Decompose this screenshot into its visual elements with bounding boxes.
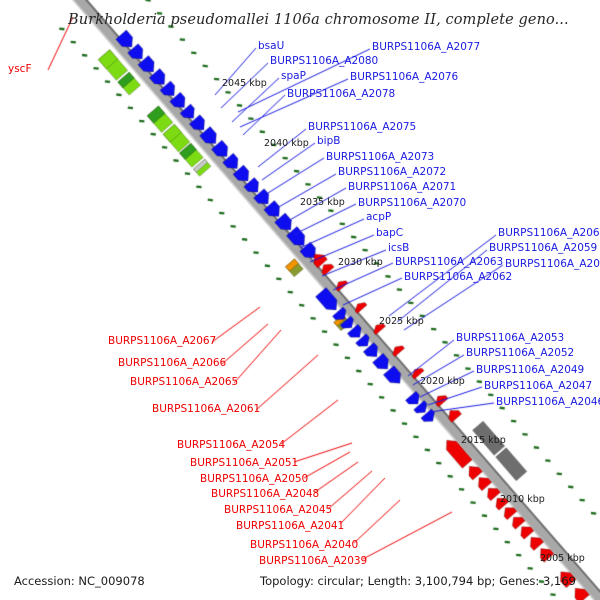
topology-label: Topology: circular; Length: 3,100,794 bp… xyxy=(260,574,576,588)
gene-label-burps1106a_a2076[interactable]: BURPS1106A_A2076 xyxy=(350,72,458,83)
gene-label-burps1106a_a2045[interactable]: BURPS1106A_A2045 xyxy=(224,505,332,516)
axis-tick-label: 2035 kbp xyxy=(300,197,345,208)
gene-label-burps1106a_a2070[interactable]: BURPS1106A_A2070 xyxy=(358,198,466,209)
gene-label-burps1106a_a2067[interactable]: BURPS1106A_A2067 xyxy=(108,336,216,347)
gene-label-burps1106a_a2073[interactable]: BURPS1106A_A2073 xyxy=(326,152,434,163)
gene-label-burps1106a_a2072[interactable]: BURPS1106A_A2072 xyxy=(338,167,446,178)
gene-label-burps1106a_a2059[interactable]: BURPS1106A_A2059 xyxy=(489,243,597,254)
gene-label-burps1106a_a2077[interactable]: BURPS1106A_A2077 xyxy=(372,42,480,53)
page-title: Burkholderia pseudomallei 1106a chromoso… xyxy=(68,12,569,28)
axis-tick-label: 2020 kbp xyxy=(420,376,465,387)
gene-label-burps1106a_a2062[interactable]: BURPS1106A_A2062 xyxy=(404,272,512,283)
accession-label: Accession: NC_009078 xyxy=(14,574,145,588)
gene-label-burps1106a_a2071[interactable]: BURPS1106A_A2071 xyxy=(348,182,456,193)
axis-tick-label: 2015 kbp xyxy=(461,435,506,446)
axis-tick-label: 2005 kbp xyxy=(540,553,585,564)
gene-label-burps1106a_a2048[interactable]: BURPS1106A_A2048 xyxy=(211,489,319,500)
gene-label-bsau[interactable]: bsaU xyxy=(258,41,284,52)
gene-label-burps1106a_a2066[interactable]: BURPS1106A_A2066 xyxy=(118,358,226,369)
gene-label-bipb[interactable]: bipB xyxy=(317,136,340,147)
gene-label-burps1106a_a2060[interactable]: BURPS1106A_A2060 xyxy=(498,228,600,239)
gene-label-acpp[interactable]: acpP xyxy=(366,212,391,223)
axis-tick-label: 2045 kbp xyxy=(222,78,267,89)
axis-tick-label: 2025 kbp xyxy=(379,316,424,327)
gene-label-burps1106a_a2053[interactable]: BURPS1106A_A2053 xyxy=(456,333,564,344)
axis-tick-label: 2010 kbp xyxy=(500,494,545,505)
gene-label-burps1106a_a2040[interactable]: BURPS1106A_A2040 xyxy=(250,540,358,551)
gene-label-bapc[interactable]: bapC xyxy=(376,228,403,239)
gene-label-burps1106a_a2050[interactable]: BURPS1106A_A2050 xyxy=(200,474,308,485)
gene-label-burps1106a_a2047[interactable]: BURPS1106A_A2047 xyxy=(484,381,592,392)
gene-label-burps1106a_a2078[interactable]: BURPS1106A_A2078 xyxy=(287,89,395,100)
gene-label-yscf[interactable]: yscF xyxy=(8,64,32,75)
gene-label-icsb[interactable]: icsB xyxy=(388,243,409,254)
gene-label-burps1106a_a2080[interactable]: BURPS1106A_A2080 xyxy=(270,56,378,67)
gene-label-burps1106a_a2075[interactable]: BURPS1106A_A2075 xyxy=(308,122,416,133)
gene-label-burps1106a_a2063[interactable]: BURPS1106A_A2063 xyxy=(395,257,503,268)
status-bar: Accession: NC_009078 Topology: circular;… xyxy=(0,568,600,600)
gene-label-burps1106a_a2065[interactable]: BURPS1106A_A2065 xyxy=(130,377,238,388)
gene-label-burps1106a_a2057[interactable]: BURPS1106A_A2057 xyxy=(505,259,600,270)
gene-label-burps1106a_a2051[interactable]: BURPS1106A_A2051 xyxy=(190,458,298,469)
gene-label-spap[interactable]: spaP xyxy=(281,71,306,82)
gene-label-burps1106a_a2041[interactable]: BURPS1106A_A2041 xyxy=(236,521,344,532)
gene-label-burps1106a_a2052[interactable]: BURPS1106A_A2052 xyxy=(466,348,574,359)
gene-label-burps1106a_a2061[interactable]: BURPS1106A_A2061 xyxy=(152,404,260,415)
gene-label-burps1106a_a2054[interactable]: BURPS1106A_A2054 xyxy=(177,440,285,451)
axis-tick-label: 2030 kbp xyxy=(338,257,383,268)
genome-viewer[interactable]: Burkholderia pseudomallei 1106a chromoso… xyxy=(0,0,600,600)
axis-tick-label: 2040 kbp xyxy=(264,138,309,149)
gene-label-burps1106a_a2039[interactable]: BURPS1106A_A2039 xyxy=(259,556,367,567)
gene-label-burps1106a_a2046[interactable]: BURPS1106A_A2046 xyxy=(496,397,600,408)
gene-label-burps1106a_a2049[interactable]: BURPS1106A_A2049 xyxy=(476,365,584,376)
